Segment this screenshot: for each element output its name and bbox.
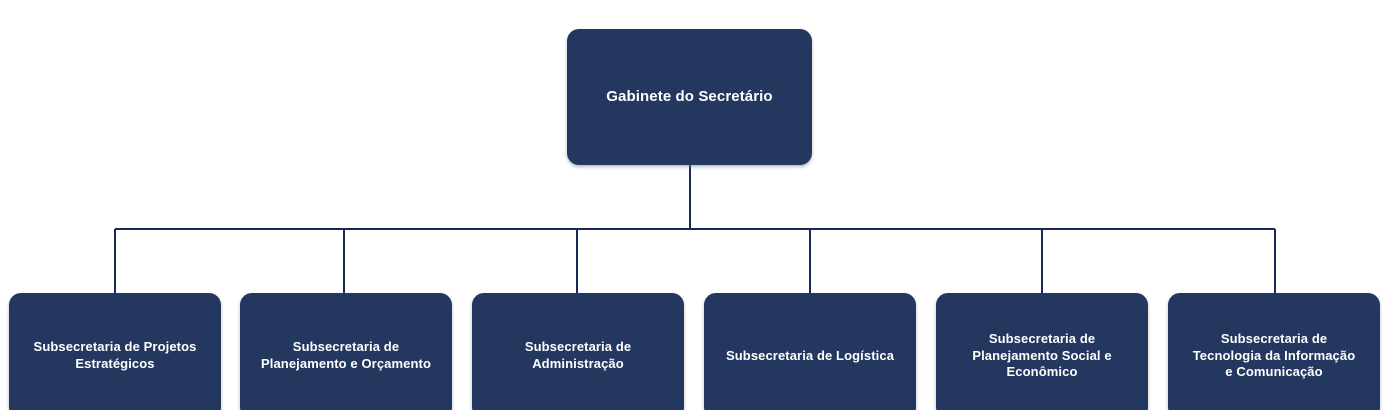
node-subsecretaria-planejamento-orcamento[interactable]: Subsecretaria de Planejamento e Orçament…: [240, 293, 452, 410]
node-label: Subsecretaria de Planejamento Social e E…: [964, 331, 1119, 381]
node-label: Subsecretaria de Planejamento e Orçament…: [253, 339, 439, 372]
node-subsecretaria-logistica[interactable]: Subsecretaria de Logística: [704, 293, 916, 410]
node-label: Subsecretaria de Administração: [517, 339, 639, 372]
node-subsecretaria-tecnologia-informacao-comunicacao[interactable]: Subsecretaria de Tecnologia da Informaçã…: [1168, 293, 1380, 410]
node-label: Gabinete do Secretário: [598, 87, 780, 106]
node-gabinete-do-secretario[interactable]: Gabinete do Secretário: [567, 29, 812, 165]
node-label: Subsecretaria de Logística: [718, 348, 902, 365]
node-label: Subsecretaria de Tecnologia da Informaçã…: [1185, 331, 1364, 381]
node-label: Subsecretaria de Projetos Estratégicos: [26, 339, 205, 372]
node-subsecretaria-projetos-estrategicos[interactable]: Subsecretaria de Projetos Estratégicos: [9, 293, 221, 410]
node-subsecretaria-administracao[interactable]: Subsecretaria de Administração: [472, 293, 684, 410]
org-chart: Gabinete do Secretário Subsecretaria de …: [0, 0, 1392, 410]
node-subsecretaria-planejamento-social-economico[interactable]: Subsecretaria de Planejamento Social e E…: [936, 293, 1148, 410]
